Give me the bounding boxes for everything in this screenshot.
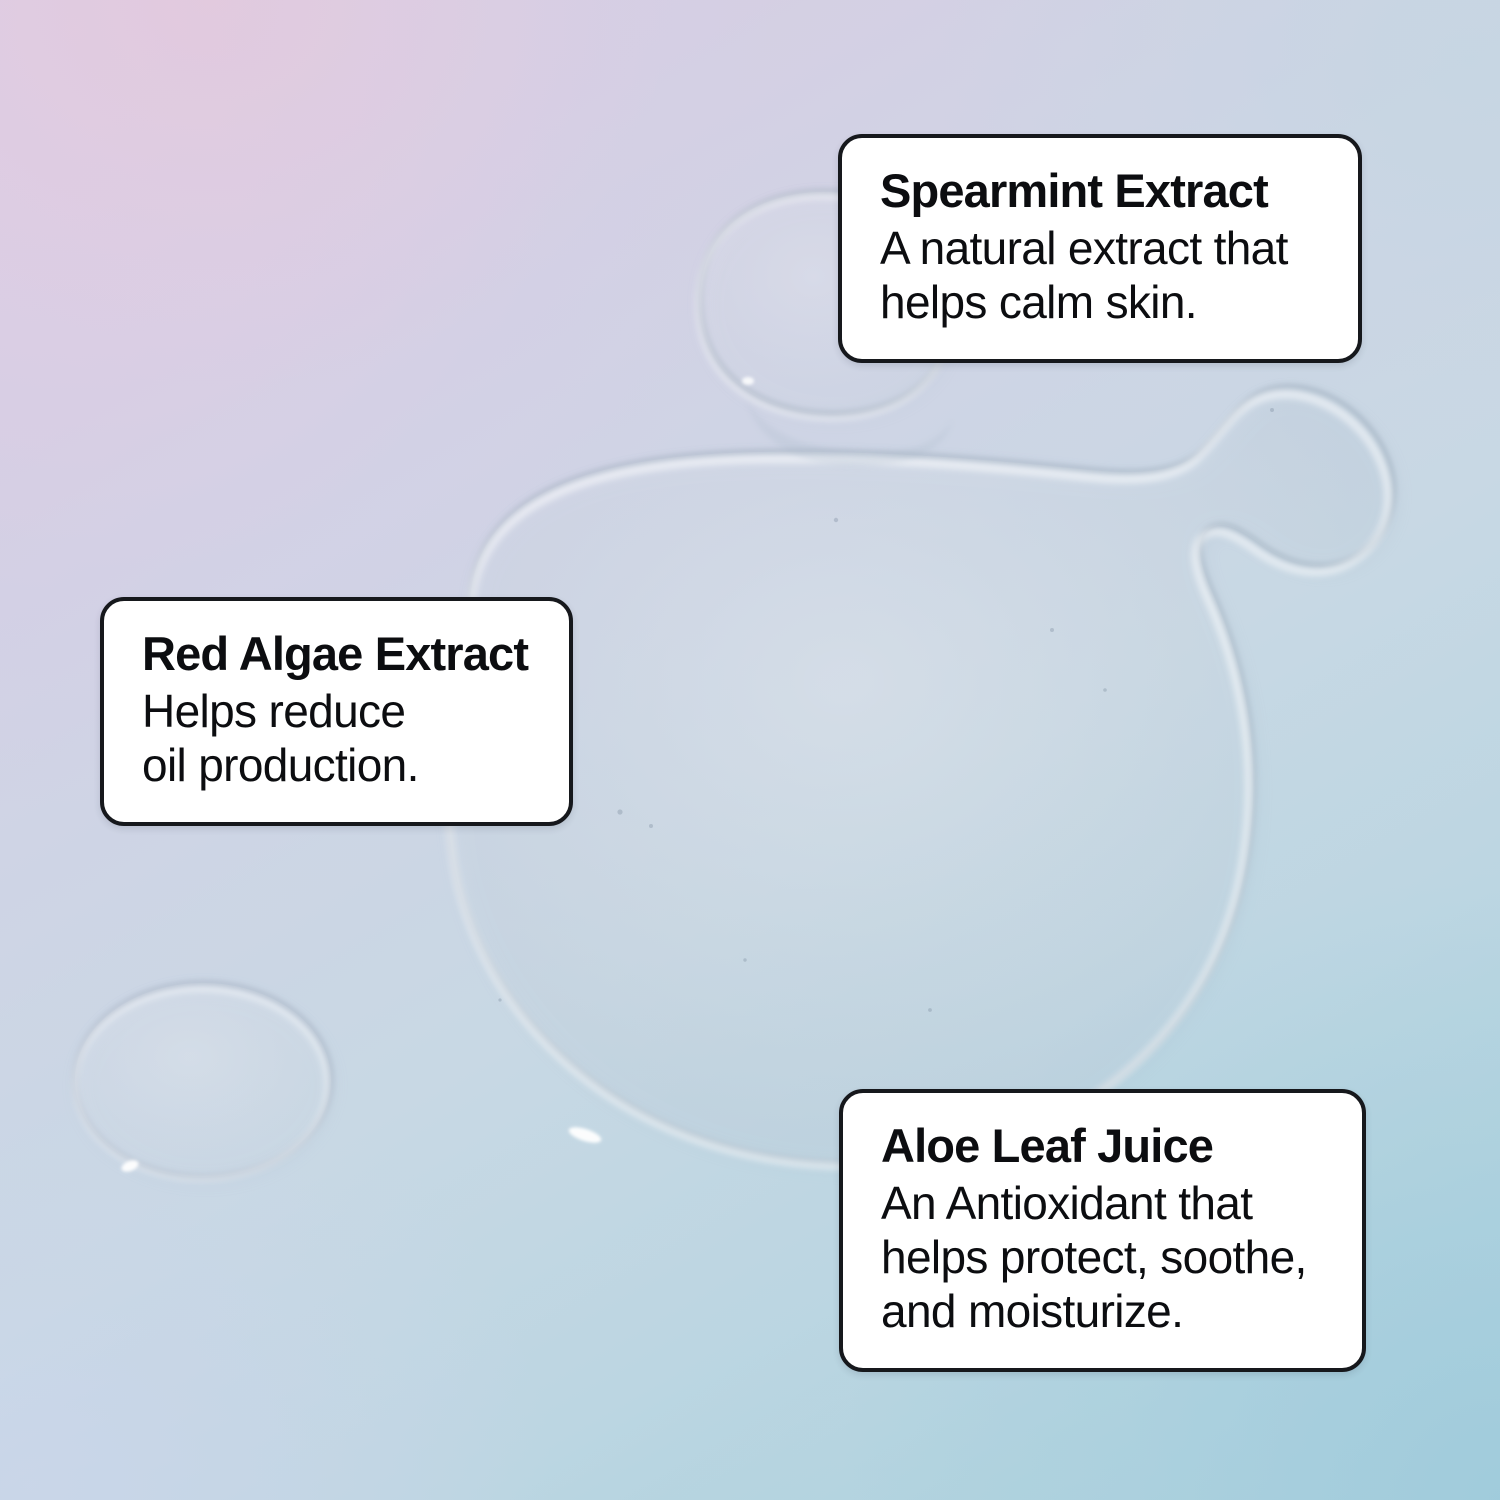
gel-speckles [498, 408, 1274, 1122]
callout-body: Helps reduce oil production. [142, 684, 539, 793]
callout-body: An Antioxidant that helps protect, sooth… [881, 1176, 1332, 1339]
droplet-highlight [742, 377, 754, 385]
product-ingredient-graphic: Spearmint Extract A natural extract that… [0, 0, 1500, 1500]
callout-card-red-algae[interactable]: Red Algae Extract Helps reduce oil produ… [100, 597, 573, 826]
droplet-large-gel-blob [446, 387, 1396, 1169]
callout-title: Red Algae Extract [142, 627, 539, 682]
callout-body: A natural extract that helps calm skin. [880, 221, 1328, 330]
droplet-small-bottom-left [75, 983, 333, 1182]
callout-title: Spearmint Extract [880, 164, 1328, 219]
callout-card-aloe[interactable]: Aloe Leaf Juice An Antioxidant that help… [839, 1089, 1366, 1372]
droplet-highlight [567, 1124, 603, 1146]
droplet-highlight [120, 1158, 140, 1174]
droplet-neck [746, 400, 952, 466]
callout-title: Aloe Leaf Juice [881, 1119, 1332, 1174]
callout-card-spearmint[interactable]: Spearmint Extract A natural extract that… [838, 134, 1362, 363]
